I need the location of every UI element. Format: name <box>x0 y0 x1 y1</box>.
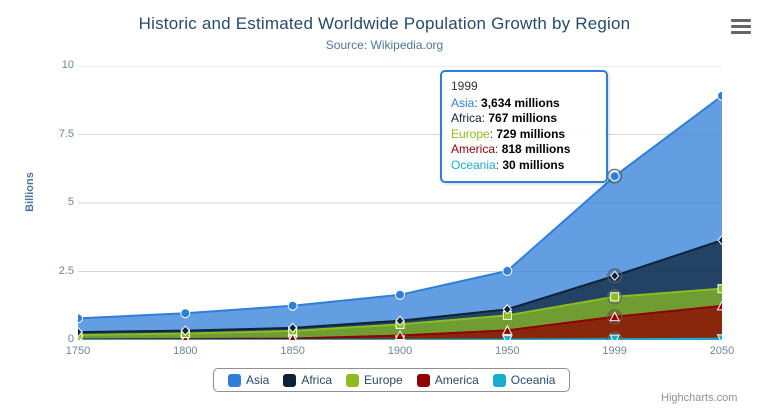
legend: AsiaAfricaEuropeAmericaOceania <box>213 368 570 392</box>
marker-asia-2050[interactable] <box>718 91 723 100</box>
legend-label: Asia <box>246 373 269 387</box>
tooltip-separator: : <box>495 142 502 156</box>
x-axis-tick-1: 1800 <box>150 345 220 357</box>
tooltip-series-value: 818 millions <box>502 142 571 156</box>
legend-swatch-america <box>417 374 430 387</box>
y-axis-tick-3: 7.5 <box>34 129 74 140</box>
menu-bar-2 <box>731 25 751 28</box>
legend-item-europe[interactable]: Europe <box>339 373 410 387</box>
x-axis-tick-5: 1999 <box>580 345 650 357</box>
legend-swatch-asia <box>228 374 241 387</box>
legend-swatch-europe <box>346 374 359 387</box>
x-axis-tick-3: 1900 <box>365 345 435 357</box>
menu-bar-1 <box>731 19 751 22</box>
legend-label: Oceania <box>511 373 556 387</box>
y-axis-tick-2: 5 <box>34 197 74 208</box>
legend-item-america[interactable]: America <box>410 373 486 387</box>
tooltip-row-europe: Europe: 729 millions <box>451 127 597 143</box>
legend-label: Europe <box>364 373 403 387</box>
marker-asia-1850[interactable] <box>288 301 297 310</box>
tooltip-series-name: Africa <box>451 111 482 125</box>
highcharts-container: Historic and Estimated Worldwide Populat… <box>0 0 769 416</box>
y-axis-tick-4: 10 <box>34 60 74 71</box>
legend-item-asia[interactable]: Asia <box>221 373 276 387</box>
x-axis-tick-6: 2050 <box>687 345 757 357</box>
tooltip-row-america: America: 818 millions <box>451 142 597 158</box>
x-axis-tick-2: 1850 <box>258 345 328 357</box>
legend-item-oceania[interactable]: Oceania <box>486 373 563 387</box>
tooltip-row-africa: Africa: 767 millions <box>451 111 597 127</box>
tooltip-row-asia: Asia: 3,634 millions <box>451 96 597 112</box>
credits-label[interactable]: Highcharts.com <box>661 392 737 404</box>
marker-asia-1800[interactable] <box>181 309 190 318</box>
tooltip: 1999 Asia: 3,634 millionsAfrica: 767 mil… <box>440 70 608 183</box>
marker-europe-2050[interactable] <box>718 285 722 293</box>
tooltip-row-oceania: Oceania: 30 millions <box>451 158 597 174</box>
legend-swatch-oceania <box>493 374 506 387</box>
plot-area <box>78 66 722 340</box>
tooltip-header: 1999 <box>451 79 597 96</box>
legend-label: America <box>435 373 479 387</box>
tooltip-series-name: America <box>451 142 495 156</box>
marker-asia-1950[interactable] <box>503 266 512 275</box>
chart-subtitle: Source: Wikipedia.org <box>0 38 769 52</box>
tooltip-series-name: Asia <box>451 96 474 110</box>
y-axis-tick-0: 0 <box>34 334 74 345</box>
chart-title: Historic and Estimated Worldwide Populat… <box>0 14 769 34</box>
tooltip-series-value: 3,634 millions <box>481 96 560 110</box>
tooltip-rows: Asia: 3,634 millionsAfrica: 767 millions… <box>451 96 597 174</box>
tooltip-series-name: Oceania <box>451 158 496 172</box>
menu-bar-3 <box>731 31 751 34</box>
marker-asia-1750[interactable] <box>78 314 83 323</box>
marker-asia-1900[interactable] <box>396 290 405 299</box>
x-axis-tick-0: 1750 <box>43 345 113 357</box>
tooltip-series-value: 767 millions <box>488 111 557 125</box>
y-axis-tick-1: 2.5 <box>34 266 74 277</box>
tooltip-separator: : <box>474 96 481 110</box>
tooltip-series-value: 729 millions <box>496 127 565 141</box>
tooltip-series-value: 30 millions <box>502 158 564 172</box>
legend-item-africa[interactable]: Africa <box>276 373 339 387</box>
legend-swatch-africa <box>283 374 296 387</box>
x-axis-tick-4: 1950 <box>472 345 542 357</box>
hamburger-menu-icon[interactable] <box>728 16 754 38</box>
tooltip-series-name: Europe <box>451 127 490 141</box>
legend-label: Africa <box>301 373 332 387</box>
